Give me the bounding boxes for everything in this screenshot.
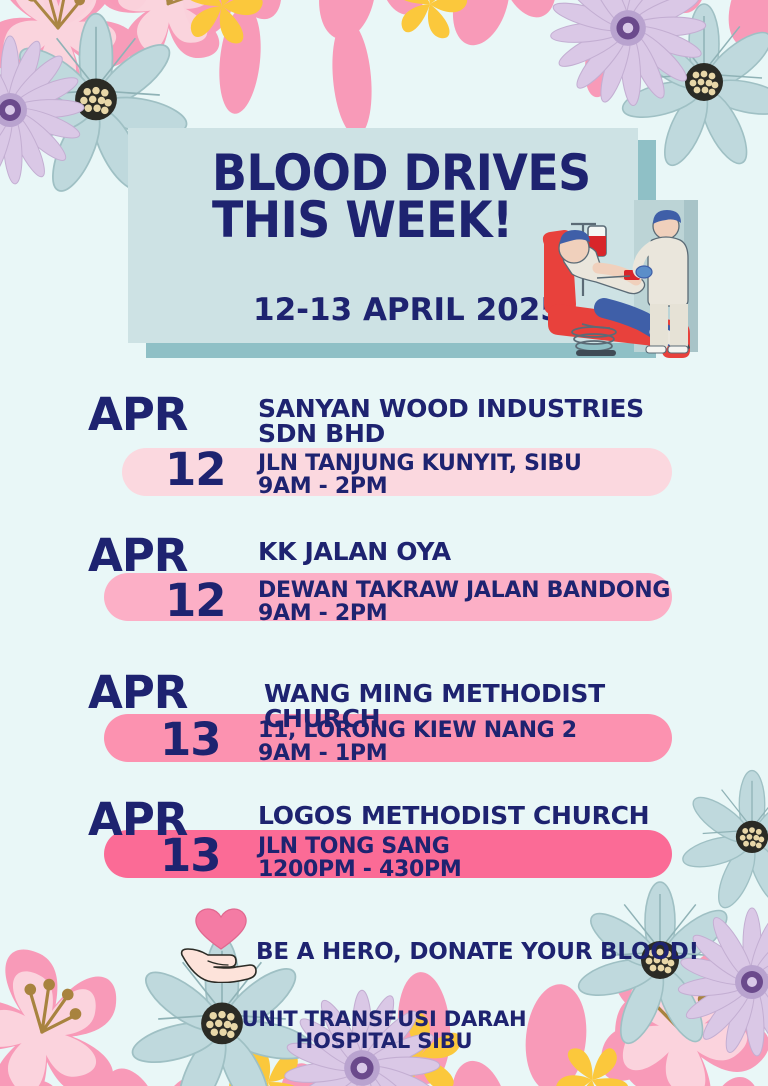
event-address: JLN TONG SANG [258, 836, 678, 858]
event-time: 9AM - 2PM [258, 603, 678, 625]
event-address: DEWAN TAKRAW JALAN BANDONG [258, 580, 688, 602]
event-day: 12 [165, 578, 226, 623]
event-day: 13 [160, 717, 221, 762]
event-day: 12 [165, 447, 226, 492]
event-address: 11, LORONG KIEW NANG 2 [258, 720, 678, 742]
event-venue: SANYAN WOOD INDUSTRIES SDN BHD [258, 396, 678, 446]
event-venue: LOGOS METHODIST CHURCH [258, 803, 688, 828]
event-time: 9AM - 1PM [258, 743, 678, 765]
header-date-range: 12-13 APRIL 2025 [253, 292, 562, 328]
org-line-2: HOSPITAL SIBU [0, 1031, 768, 1053]
hand-holding-heart-icon [178, 905, 264, 983]
blood-donation-illustration [538, 200, 698, 360]
event-address: JLN TANJUNG KUNYIT, SIBU [258, 453, 678, 475]
event-time: 1200PM - 430PM [258, 859, 678, 881]
event-day: 13 [160, 833, 221, 878]
cta-text: BE A HERO, DONATE YOUR BLOOD! [256, 939, 699, 965]
event-venue: KK JALAN OYA [258, 539, 678, 564]
org-line-1: UNIT TRANSFUSI DARAH [0, 1009, 768, 1031]
organisation-name: UNIT TRANSFUSI DARAH HOSPITAL SIBU [0, 1009, 768, 1053]
poster-canvas: BLOOD DRIVES THIS WEEK! 12-13 APRIL 2025 [0, 0, 768, 1086]
event-month: APR [88, 533, 187, 578]
event-time: 9AM - 2PM [258, 476, 678, 498]
event-month: APR [88, 392, 187, 437]
event-month: APR [88, 670, 187, 715]
